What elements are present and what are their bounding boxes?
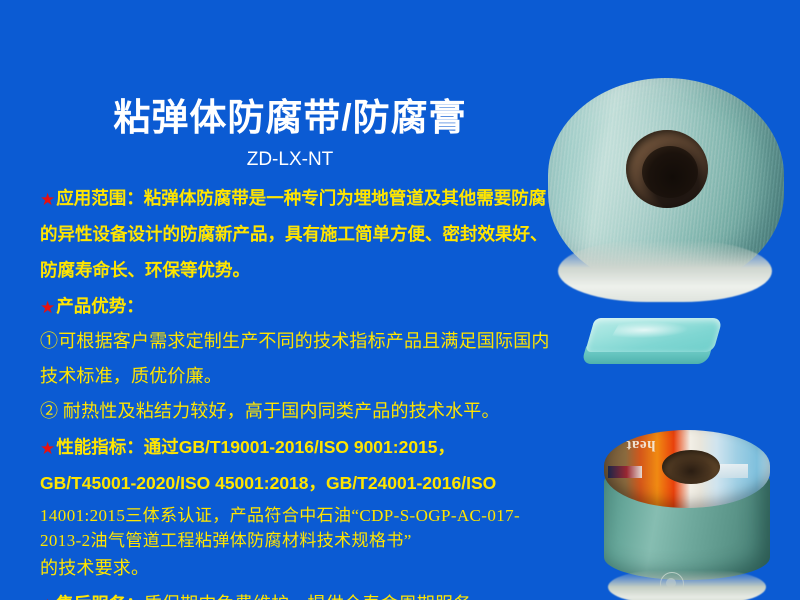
performance-indicators-heading: 性能指标： [56,437,144,457]
section-performance-indicators: ★性能指标：通过GB/T19001-2016/ISO 9001:2015， GB… [40,429,580,586]
after-sales-service-text: 质保期内免费维护，提供全寿命周期服务 [144,594,472,600]
text-column: 粘弹体防腐带/防腐膏 ZD-LX-NT ★应用范围：粘弹体防腐带是一种专门为埋地… [0,0,580,600]
label-swatch-left [608,466,642,478]
product-advantages-heading-line: ★产品优势： [40,288,580,324]
viscoelastic-paste-slab-image [584,318,724,376]
product-model-subtitle: ZD-LX-NT [0,148,580,172]
labeled-tape-roll-image: heat [600,428,800,600]
page-title: 粘弹体防腐带/防腐膏 [0,96,580,140]
star-bullet-icon: ★ [40,300,55,317]
labeled-roll-core [662,450,720,484]
section-after-sales-service: ★售后服务：质保期内免费维护，提供全寿命周期服务 [40,586,580,600]
section-application-scope: ★应用范围：粘弹体防腐带是一种专门为埋地管道及其他需要防腐 的异性设备设计的防腐… [40,180,580,288]
product-advantages-line-3: ② 耐热性及粘结力较好，高于国内同类产品的技术水平。 [40,394,580,429]
product-advantages-line-2: 技术标准，质优价廉。 [40,359,580,394]
product-advantages-line-1: ①可根据客户需求定制生产不同的技术指标产品且满足国际国内 [40,324,580,359]
tape-roll-core-hole [642,146,698,198]
section-product-advantages: ★产品优势： ①可根据客户需求定制生产不同的技术指标产品且满足国际国内 技术标准… [40,288,580,429]
body-content: ★应用范围：粘弹体防腐带是一种专门为埋地管道及其他需要防腐 的异性设备设计的防腐… [40,180,580,600]
application-scope-line-3: 防腐寿命长、环保等优势。 [40,252,580,288]
star-bullet-icon: ★ [40,441,55,458]
label-text: heat [626,436,656,453]
performance-indicators-line-3: 14001:2015三体系认证，产品符合中石油“CDP-S-OGP-AC-017… [40,501,580,526]
paste-slab-sheen [611,322,692,338]
application-scope-heading: 应用范围： [56,188,144,208]
tape-roll-core [626,130,708,208]
application-scope-line-2: 的异性设备设计的防腐新产品，具有施工简单方便、密封效果好、 [40,216,580,252]
performance-indicators-text-1: 通过GB/T19001-2016/ISO 9001:2015， [144,437,455,457]
tape-roll-edge [558,240,772,302]
after-sales-service-line-1: ★售后服务：质保期内免费维护，提供全寿命周期服务 [40,586,580,600]
performance-indicators-line-1: ★性能指标：通过GB/T19001-2016/ISO 9001:2015， [40,429,580,465]
performance-indicators-line-5: 的技术要求。 [40,551,580,586]
paste-slab-top [585,318,723,352]
after-sales-service-heading: 售后服务： [56,594,144,600]
application-scope-text-1: 粘弹体防腐带是一种专门为埋地管道及其他需要防腐 [144,188,547,208]
product-poster: heat 粘弹体防腐带/防腐膏 ZD-LX-NT ★应用范围：粘弹体防腐带是一种… [0,0,800,600]
application-scope-line-1: ★应用范围：粘弹体防腐带是一种专门为埋地管道及其他需要防腐 [40,180,580,216]
labeled-roll-rim [608,570,766,600]
performance-indicators-line-2: GB/T45001-2020/ISO 45001:2018，GB/T24001-… [40,465,580,501]
star-bullet-icon: ★ [40,192,55,209]
product-advantages-heading: 产品优势： [56,296,144,316]
label-swatch-right [718,464,748,478]
performance-indicators-line-4: 2013-2油气管道工程粘弹体防腐材料技术规格书” [40,526,580,551]
